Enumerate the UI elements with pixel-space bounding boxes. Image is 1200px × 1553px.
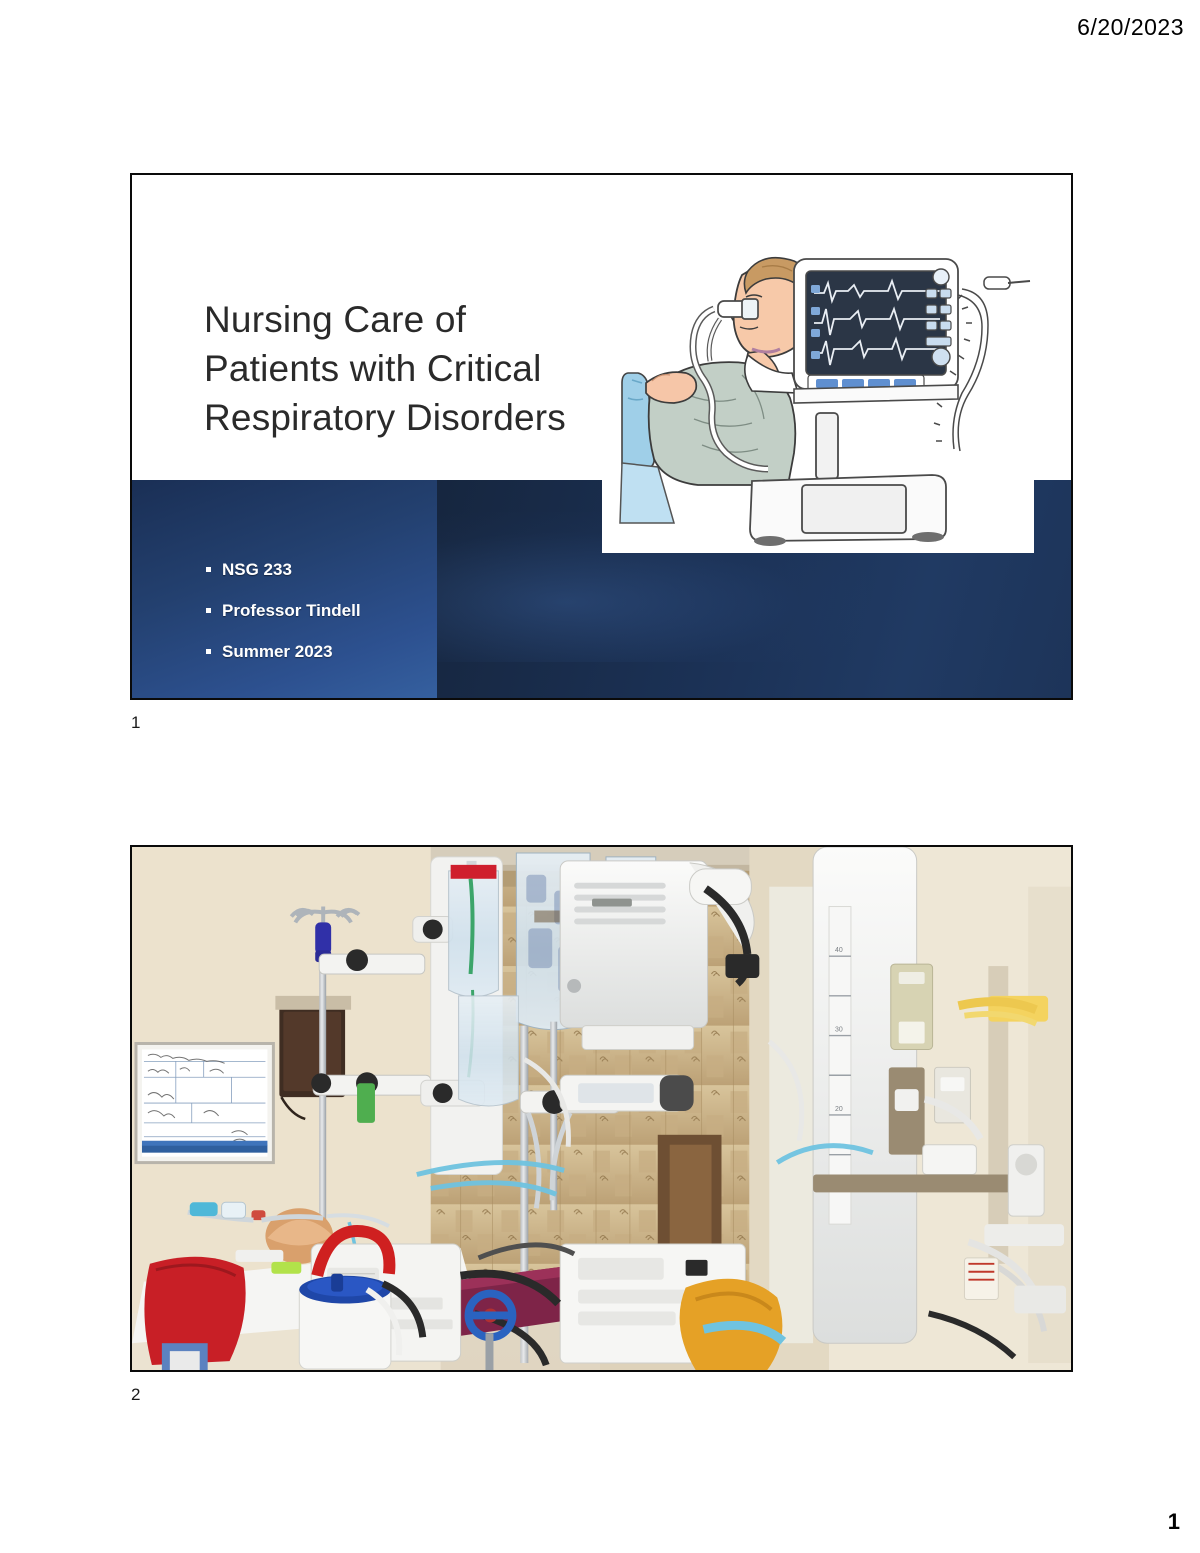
list-item: Professor Tindell [206,602,466,619]
handout-page: 6/20/2023 Nursing Care of Patients with … [0,0,1200,1553]
slide-1-bullet-list: NSG 233 Professor Tindell Summer 2023 [206,561,466,660]
square-bullet-icon [206,649,211,654]
slide-2-number: 2 [131,1385,140,1405]
slide-1-title-line-1: Nursing Care of [204,295,624,344]
square-bullet-icon [206,567,211,572]
svg-text:40: 40 [835,947,843,954]
slide-1-title: Nursing Care of Patients with Critical R… [204,295,624,443]
slide-1-number: 1 [131,713,140,733]
page-number: 1 [1168,1509,1180,1535]
bullet-label: NSG 233 [222,561,292,578]
ventilated-patient-illustration [602,223,1034,553]
slide-1: Nursing Care of Patients with Critical R… [130,173,1073,700]
slide-2: 40 30 20 10 [130,845,1073,1372]
bullet-label: Professor Tindell [222,602,361,619]
list-item: NSG 233 [206,561,466,578]
slide-1-title-line-2: Patients with Critical [204,344,624,393]
bullet-label: Summer 2023 [222,643,333,660]
list-item: Summer 2023 [206,643,466,660]
svg-text:20: 20 [835,1106,843,1113]
square-bullet-icon [206,608,211,613]
header-date: 6/20/2023 [1077,14,1184,41]
svg-text:30: 30 [835,1027,843,1034]
slide-1-title-line-3: Respiratory Disorders [204,393,624,442]
icu-room-photograph: 40 30 20 10 [132,847,1071,1370]
